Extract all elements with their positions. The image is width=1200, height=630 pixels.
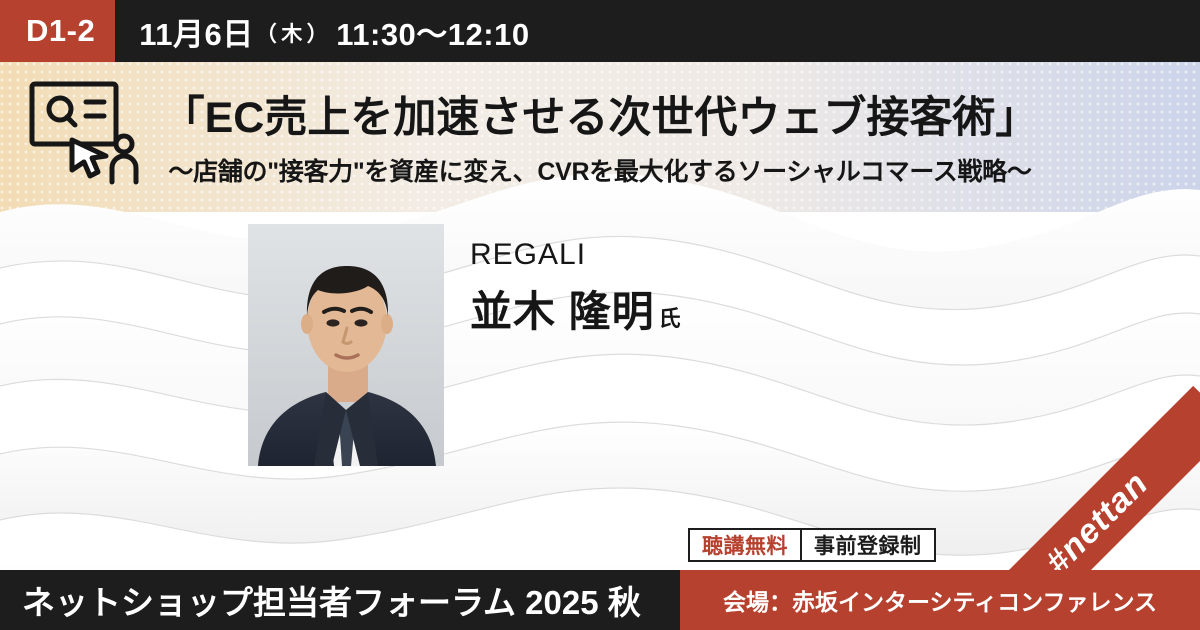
session-datetime: 11月6日 （ 木 ） 11:30〜12:10 xyxy=(115,0,1200,62)
background-artwork xyxy=(0,62,1200,630)
status-badge-registration: 事前登録制 xyxy=(802,530,934,560)
event-venue: 会場：赤坂インターシティコンファレンス xyxy=(680,570,1200,630)
session-time: 11:30〜12:10 xyxy=(336,9,529,54)
page-title: 「EC売上を加速させる次世代ウェブ接客術」 xyxy=(0,94,1200,143)
status-badge-group: 聴講無料 事前登録制 xyxy=(688,528,936,562)
session-code-badge: D1-2 xyxy=(0,0,115,62)
speaker-photo xyxy=(248,224,444,466)
status-badge-free: 聴講無料 xyxy=(690,530,802,560)
session-weekday: 木 xyxy=(281,18,303,48)
session-date: 11月6日 xyxy=(139,9,254,54)
day-paren-close: ） xyxy=(307,18,329,48)
speaker-name-suffix: 氏 xyxy=(659,306,682,331)
session-code-label: D1-2 xyxy=(26,13,95,49)
speaker-name: 並木 隆明氏 xyxy=(470,278,682,339)
speaker-company: REGALI xyxy=(470,238,586,272)
page-subtitle: 〜店舗の"接客力"を資産に変え、CVRを最大化するソーシャルコマース戦略〜 xyxy=(0,152,1200,188)
event-session-banner: D1-2 11月6日 （ 木 ） 11:30〜12:10 「EC売上を加速させる… xyxy=(0,0,1200,630)
day-paren-open: （ xyxy=(256,18,278,48)
event-name: ネットショップ担当者フォーラム 2025 秋 xyxy=(0,570,680,630)
footer: ネットショップ担当者フォーラム 2025 秋 会場：赤坂インターシティコンファレ… xyxy=(0,570,1200,630)
topbar: D1-2 11月6日 （ 木 ） 11:30〜12:10 xyxy=(0,0,1200,62)
speaker-name-text: 並木 隆明 xyxy=(470,288,655,335)
